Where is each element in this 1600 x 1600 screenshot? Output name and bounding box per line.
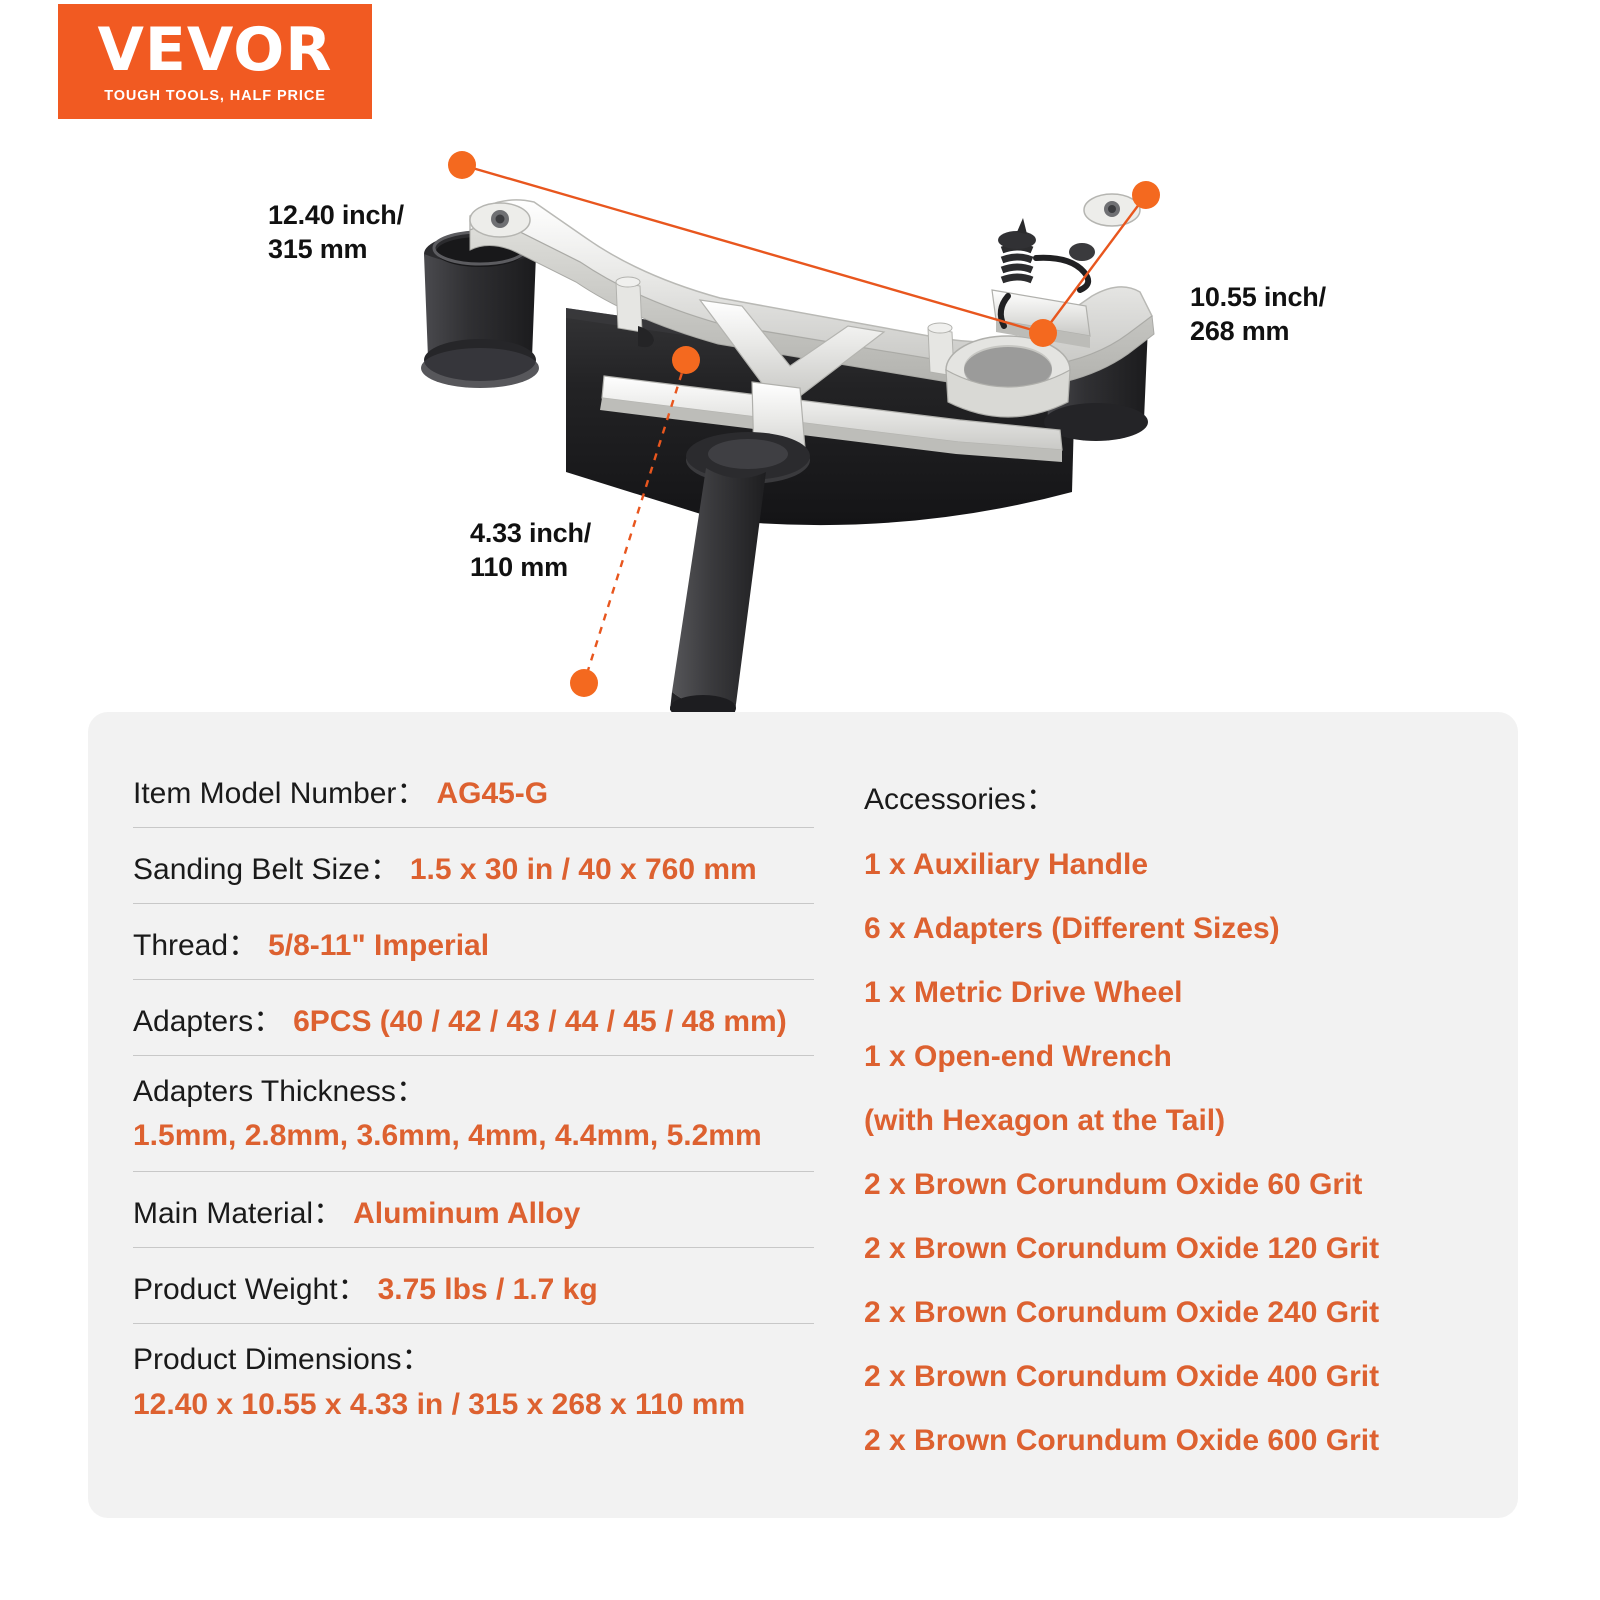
vevor-logo: VEVOR TOUGH TOOLS, HALF PRICE [58, 4, 372, 119]
spec-label: Adapters Thickness： [133, 1075, 426, 1108]
left-roller [421, 232, 539, 388]
spec-row: Adapters：6PCS (40 / 42 / 43 / 44 / 45 / … [133, 980, 848, 1056]
spec-value: 3.75 lbs / 1.7 kg [378, 1273, 598, 1307]
accessories-list: 1 x Auxiliary Handle6 x Adapters (Differ… [864, 848, 1518, 1458]
specification-panel: Item Model Number：AG45-GSanding Belt Siz… [88, 712, 1518, 1518]
brand-tagline: TOUGH TOOLS, HALF PRICE [104, 88, 326, 104]
spec-label: Thread： [133, 920, 258, 964]
spec-row: Adapters Thickness：1.5mm, 2.8mm, 3.6mm, … [133, 1056, 848, 1172]
spec-label: Sanding Belt Size： [133, 844, 400, 888]
spec-label: Item Model Number： [133, 768, 426, 812]
callout-dot-width [1132, 181, 1160, 209]
accessory-item: 1 x Metric Drive Wheel [864, 976, 1518, 1010]
accessory-item: 2 x Brown Corundum Oxide 400 Grit [864, 1360, 1518, 1394]
accessory-item: 6 x Adapters (Different Sizes) [864, 912, 1518, 946]
spec-row: Main Material：Aluminum Alloy [133, 1172, 848, 1248]
spec-value: 1.5mm, 2.8mm, 3.6mm, 4mm, 4.4mm, 5.2mm [133, 1116, 848, 1156]
accessory-item: (with Hexagon at the Tail) [864, 1104, 1518, 1138]
accessories-title: Accessories： [864, 774, 1518, 818]
accessory-item: 1 x Auxiliary Handle [864, 848, 1518, 882]
accessory-item: 1 x Open-end Wrench [864, 1040, 1518, 1074]
spec-label: Main Material： [133, 1188, 343, 1232]
callout-height-label: 4.33 inch/ 110 mm [470, 516, 591, 585]
callout-dot-height-top [672, 346, 700, 374]
spec-value: 12.40 x 10.55 x 4.33 in / 315 x 268 x 11… [133, 1385, 848, 1425]
accessories-section: Accessories： 1 x Auxiliary Handle6 x Ada… [848, 712, 1518, 1518]
spec-row: Product Dimensions：12.40 x 10.55 x 4.33 … [133, 1324, 848, 1439]
spec-value: 5/8-11" Imperial [268, 929, 489, 963]
brand-wordmark: VEVOR [97, 20, 332, 80]
spec-value: AG45-G [436, 777, 548, 811]
accessory-item: 2 x Brown Corundum Oxide 240 Grit [864, 1296, 1518, 1330]
spec-row: Product Weight：3.75 lbs / 1.7 kg [133, 1248, 848, 1324]
spec-label: Adapters： [133, 996, 283, 1040]
product-photo [0, 120, 1600, 720]
callout-dot-corner [1029, 319, 1057, 347]
product-figure: 12.40 inch/ 315 mm 10.55 inch/ 268 mm 4.… [0, 120, 1600, 720]
callout-dot-length [448, 151, 476, 179]
spec-label: Product Dimensions： [133, 1343, 431, 1376]
callout-length-label: 12.40 inch/ 315 mm [268, 198, 404, 267]
spec-label: Product Weight： [133, 1264, 368, 1308]
callout-dot-height-bottom [570, 669, 598, 697]
spec-row: Thread：5/8-11" Imperial [133, 904, 848, 980]
spec-value: 1.5 x 30 in / 40 x 760 mm [410, 853, 757, 887]
accessory-item: 2 x Brown Corundum Oxide 60 Grit [864, 1168, 1518, 1202]
spec-value: 6PCS (40 / 42 / 43 / 44 / 45 / 48 mm) [293, 1005, 787, 1039]
accessory-item: 2 x Brown Corundum Oxide 600 Grit [864, 1424, 1518, 1458]
mounting-collar [946, 336, 1070, 417]
spec-row: Sanding Belt Size：1.5 x 30 in / 40 x 760… [133, 828, 848, 904]
spec-row: Item Model Number：AG45-G [133, 752, 848, 828]
spec-value: Aluminum Alloy [353, 1197, 580, 1231]
accessory-item: 2 x Brown Corundum Oxide 120 Grit [864, 1232, 1518, 1266]
callout-width-label: 10.55 inch/ 268 mm [1190, 280, 1326, 349]
spec-table: Item Model Number：AG45-GSanding Belt Siz… [88, 712, 848, 1518]
